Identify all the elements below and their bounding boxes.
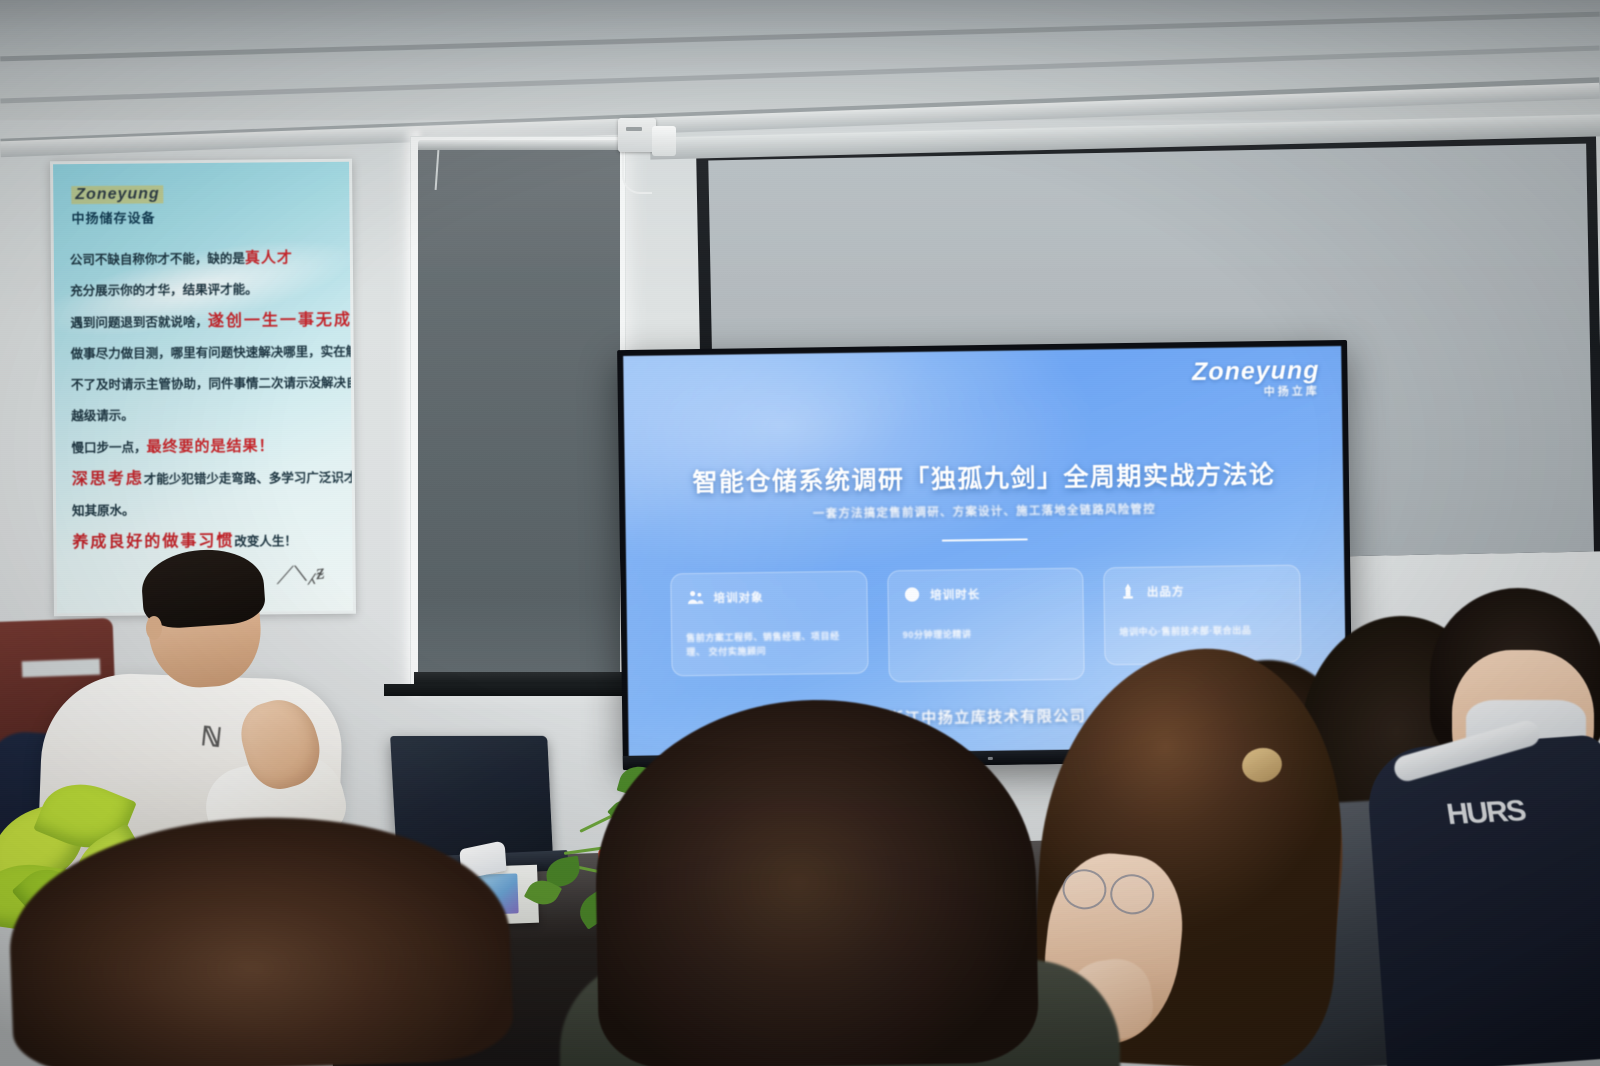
poster-line: 公司不缺自称你才不能，缺的是真人才 <box>70 242 338 276</box>
poster-line: 慢口步一点，最终要的是结果！ <box>71 430 339 464</box>
card-title: 出品方 <box>1147 583 1185 600</box>
poster-line: 充分展示你的才华，结果评才能。 <box>70 274 338 307</box>
power-led-icon <box>988 757 993 760</box>
window-sill <box>384 684 636 696</box>
glasses-lens-right <box>1108 872 1156 916</box>
card-title: 培训时长 <box>930 586 980 603</box>
clock-icon <box>902 585 921 604</box>
slide-divider <box>942 538 1028 541</box>
eyeglasses-icon <box>1060 867 1160 923</box>
meeting-room-photo: Zoneyung 中扬储存设备 公司不缺自称你才不能，缺的是真人才 充分展示你的… <box>0 0 1600 1066</box>
slide-subtitle: 一套方法搞定售前调研、方案设计、施工落地全链路风险管控 <box>625 498 1343 524</box>
glasses-lens-left <box>1060 867 1108 911</box>
card-body-text: 90分钟理论精讲 <box>903 626 1070 642</box>
slide-title: 智能仓储系统调研「独孤九剑」全周期实战方法论 <box>625 454 1343 500</box>
info-card-duration: 培训时长 90分钟理论精讲 <box>887 568 1085 683</box>
window-blind[interactable] <box>418 150 620 675</box>
card-body-text: 售前方案工程师、销售经理、项目经理、 交付实施顾问 <box>686 629 853 659</box>
poster-text-body: 公司不缺自称你才不能，缺的是真人才 充分展示你的才华，结果评才能。 遇到问题退到… <box>70 242 341 559</box>
poster-line: 做事尽力做目测，哪里有问题快速解决哪里，实在解决 <box>71 337 339 370</box>
info-card-audience: 培训对象 售前方案工程师、销售经理、项目经理、 交付实施顾问 <box>670 571 868 677</box>
brand-wordmark: Zoneyung <box>1192 358 1320 385</box>
poster-brand-logo: Zoneyung <box>71 185 164 204</box>
presenter-ear <box>146 616 162 640</box>
card-body-text: 培训中心·售前技术部·联合出品 <box>1119 623 1286 639</box>
poster-line: 深思考虑才能少犯错少走弯路、多学习广泛识才能 <box>72 462 340 496</box>
users-icon <box>685 588 704 607</box>
poster-line: 不了及时请示主管协助，同件事情二次请示没解决自接 <box>71 368 339 401</box>
card-title: 培训对象 <box>713 589 763 606</box>
power-outlet <box>618 118 656 152</box>
poster-signature: ⟋⟍⁁ᵶ <box>274 558 326 589</box>
card-header: 出品方 <box>1119 580 1286 601</box>
jacket-print-text: HURS <box>1445 794 1600 967</box>
card-header: 培训时长 <box>902 583 1069 604</box>
screen-glare <box>623 346 1182 756</box>
poster-line: 知其原水。 <box>72 494 340 527</box>
poster-brand-subtitle: 中扬储存设备 <box>71 207 155 227</box>
poster-line: 遇到问题退到否就说啥，遂创一生一事无成。 <box>70 305 338 339</box>
poster-line: 越级请示。 <box>71 399 339 432</box>
building-icon <box>1119 582 1138 601</box>
slide-brand-logo: Zoneyung 中扬立库 <box>1192 358 1320 399</box>
power-cable <box>622 150 652 194</box>
wall-poster: Zoneyung 中扬储存设备 公司不缺自称你才不能，缺的是真人才 充分展示你的… <box>50 159 356 617</box>
wall-plug <box>652 126 676 156</box>
brand-chinese-name: 中扬立库 <box>1192 386 1320 399</box>
chair-backrest-gap <box>22 659 101 678</box>
card-header: 培训对象 <box>685 586 852 607</box>
